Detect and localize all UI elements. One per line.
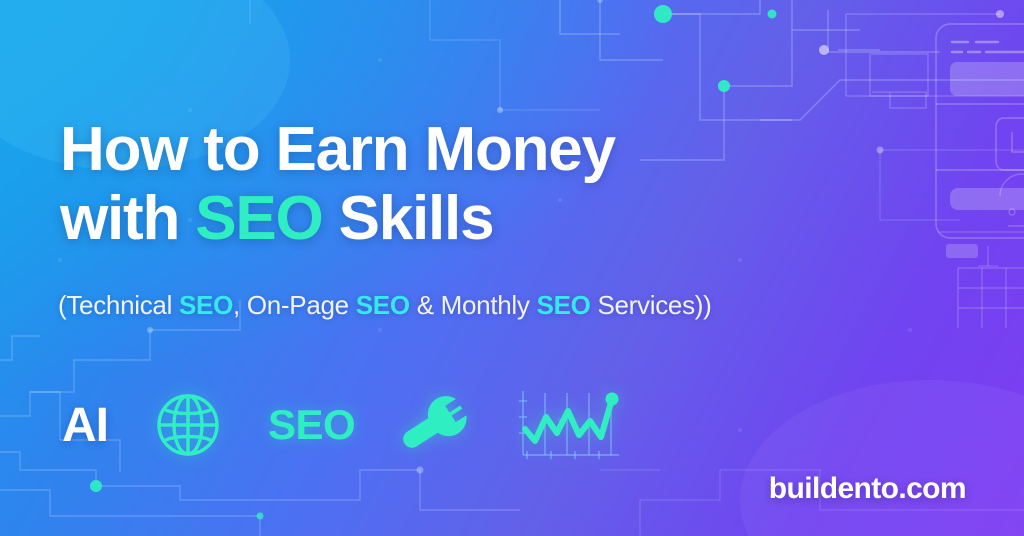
promo-banner: How to Earn Money with SEO Skills (Techn… — [0, 0, 1024, 536]
subtitle-part-4: Services)) — [591, 290, 712, 320]
headline-line-2-post: Skills — [323, 184, 494, 253]
subtitle: (Technical SEO, On-Page SEO & Monthly SE… — [58, 290, 711, 321]
subtitle-part-1: (Technical — [58, 290, 179, 320]
subtitle-part-3: & Monthly — [410, 290, 537, 320]
subtitle-accent-1: SEO — [179, 290, 233, 320]
headline-line-2: with SEO Skills — [60, 187, 615, 250]
line-chart-icon — [513, 387, 623, 463]
headline-line-1: How to Earn Money — [60, 115, 615, 184]
icon-row: AI SEO — [62, 380, 623, 470]
seo-text-icon: SEO — [268, 401, 355, 449]
page-title: How to Earn Money with SEO Skills — [60, 118, 615, 250]
subtitle-part-2: , On-Page — [233, 290, 356, 320]
headline-accent-seo: SEO — [195, 184, 322, 253]
subtitle-accent-3: SEO — [537, 290, 591, 320]
brand-url: buildento.com — [769, 472, 966, 506]
subtitle-accent-2: SEO — [356, 290, 410, 320]
globe-icon — [152, 389, 224, 461]
ai-text-icon: AI — [62, 398, 108, 453]
wrench-icon — [399, 390, 469, 460]
headline-line-2-pre: with — [60, 184, 195, 253]
